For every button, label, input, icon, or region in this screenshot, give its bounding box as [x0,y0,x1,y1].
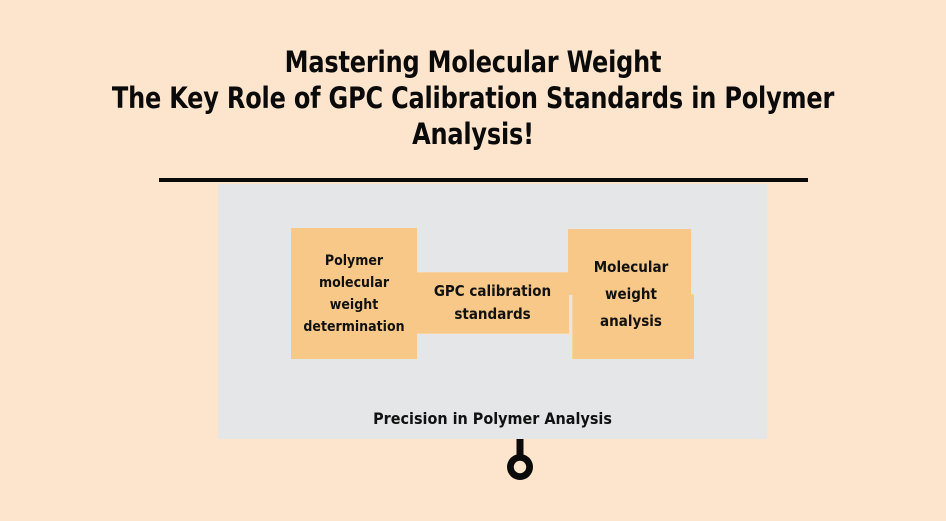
ring-marker-icon [503,439,537,481]
diagram-node-label: Molecular weight analysis [568,254,694,335]
title-line-1: Mastering Molecular Weight [38,44,908,80]
title-line-2: The Key Role of GPC Calibration Standard… [38,80,908,116]
diagram-node-label: GPC calibration standards [416,280,569,326]
diagram-node-gpc-calibration-standards[interactable]: GPC calibration standards [416,272,569,334]
title-divider [159,178,808,182]
diagram-node-polymer-molecular-weight-determination[interactable]: Polymer molecular weight determination [291,228,417,359]
diagram-caption: Precision in Polymer Analysis [218,408,767,430]
diagram-node-molecular-weight-analysis[interactable]: Molecular weight analysis [568,229,694,359]
page-title: Mastering Molecular Weight The Key Role … [38,44,908,152]
title-line-3: Analysis! [38,116,908,152]
diagram-node-label: Polymer molecular weight determination [291,250,417,338]
slide-canvas: Mastering Molecular Weight The Key Role … [0,0,946,521]
